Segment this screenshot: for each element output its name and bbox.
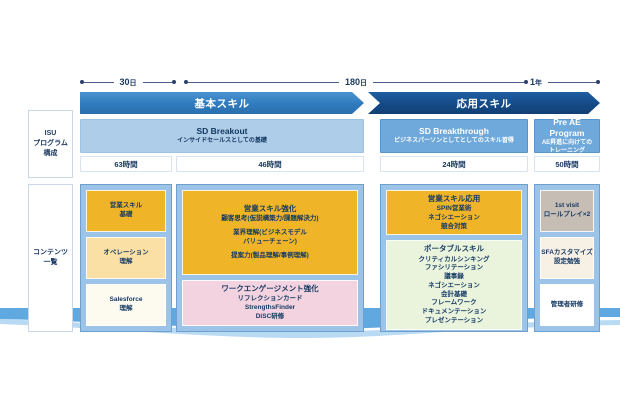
band-basic-skills: 基本スキル: [80, 92, 364, 114]
band-applied-skills: 応用スキル: [368, 92, 600, 114]
content-card-line: 業界理解(ビジネスモデル: [233, 229, 307, 238]
hours-value: 46時間: [258, 159, 281, 170]
content-card-line: 1st visit: [555, 202, 579, 211]
content-card-line: プレゼンテーション: [425, 317, 483, 326]
hours-cell-4: 50時間: [534, 156, 600, 172]
content-card[interactable]: 管理者研修: [540, 284, 594, 326]
content-card-line: 顧客思考(仮説構築力/課題解決力): [221, 215, 318, 224]
content-card-header: 営業スキル強化: [244, 204, 297, 214]
content-card-line: 理解: [120, 258, 133, 267]
row-label-contents-list: コンテンツ 一覧: [28, 184, 73, 332]
content-card-line: ファシリテーション: [425, 264, 483, 273]
timeline-dot-end: [172, 80, 176, 84]
timeline-line: [143, 82, 173, 83]
content-card-header: 営業スキル応用: [428, 194, 481, 204]
row-label-line: プログラム: [33, 140, 68, 147]
content-card-line: オペレーション: [103, 249, 148, 258]
content-card-line: クリティカルシンキング: [419, 256, 490, 265]
content-card-line: 基礎: [120, 211, 133, 220]
content-card-line: Salesforce: [110, 296, 143, 305]
contents-column-4: 1st visitロールプレイ×2SFAカスタマイズ設定勉強管理者研修: [534, 184, 600, 332]
timeline-label-30days: 30日: [114, 78, 143, 87]
row-label-line: 構成: [43, 150, 57, 157]
content-card-line: 設定勉強: [554, 258, 580, 267]
content-card-header: ワークエンゲージメント強化: [221, 284, 318, 294]
hours-value: 24時間: [442, 159, 465, 170]
band-basic-skills-label: 基本スキル: [195, 96, 250, 111]
timeline-line: [476, 82, 524, 83]
timeline: 30日 180日 1年: [80, 72, 600, 92]
content-card-line: StrengthsFinder: [245, 304, 295, 313]
content-card[interactable]: 営業スキル基礎: [86, 190, 166, 232]
contents-column-2: 営業スキル強化顧客思考(仮説構築力/課題解決力)業界理解(ビジネスモデルバリュー…: [176, 184, 364, 332]
content-card-line: 管理者研修: [551, 301, 584, 310]
content-card[interactable]: 営業スキル強化顧客思考(仮説構築力/課題解決力)業界理解(ビジネスモデルバリュー…: [182, 190, 358, 275]
program-subtitle-line: トレーニング: [549, 148, 585, 154]
content-card-line: リフレクションカード: [238, 295, 303, 304]
content-card-line: 理解: [120, 305, 133, 314]
timeline-line: [84, 82, 114, 83]
hours-cell-3: 24時間: [380, 156, 528, 172]
content-card[interactable]: Salesforce理解: [86, 284, 166, 326]
content-card-line: 競合対策: [441, 223, 467, 232]
timeline-label-1year: 1年: [524, 78, 548, 87]
row-label-line: 一覧: [44, 259, 58, 266]
content-card[interactable]: 営業スキル応用SPIN営業術ネゴシエーション競合対策: [386, 190, 522, 235]
hours-value: 63時間: [114, 159, 137, 170]
content-card-line: ネゴシエーション: [428, 214, 480, 223]
timeline-line: [548, 82, 596, 83]
content-card[interactable]: ワークエンゲージメント強化リフレクションカードStrengthsFinderDi…: [182, 280, 358, 326]
hours-cell-2: 46時間: [176, 156, 364, 172]
program-matrix: 基本スキル 応用スキル ISU プログラム 構成 コンテンツ 一覧 SD Bre…: [28, 92, 600, 334]
program-title: SD Breakthrough: [419, 126, 489, 137]
program-sd-breakout[interactable]: SD Breakout インサイドセールスとしての基礎: [80, 119, 364, 153]
hours-cell-1: 63時間: [80, 156, 172, 172]
program-subtitle: AE昇進に向けての トレーニング: [542, 140, 592, 156]
content-card-line: DiSC研修: [256, 313, 285, 322]
timeline-segment-1year: 1年: [476, 72, 600, 92]
content-card-line: バリューチェーン): [243, 238, 297, 247]
content-card-line: SPIN営業術: [437, 205, 472, 214]
program-subtitle-line: AE昇進に向けての: [542, 140, 592, 146]
content-card-header: ポータブルスキル: [424, 244, 484, 254]
timeline-label-180days: 180日: [339, 78, 373, 87]
hours-value: 50時間: [555, 159, 578, 170]
timeline-segment-30days: 30日: [80, 72, 176, 92]
program-title: SD Breakout: [196, 126, 247, 137]
program-subtitle: ビジネスパーソンとしてとしてのスキル習得: [394, 138, 514, 146]
contents-column-3: 営業スキル応用SPIN営業術ネゴシエーション競合対策ポータブルスキルクリティカル…: [380, 184, 528, 332]
content-card-line: 営業スキル: [110, 202, 143, 211]
program-subtitle: インサイドセールスとしての基礎: [177, 138, 267, 146]
band-applied-skills-label: 応用スキル: [457, 96, 512, 111]
program-title: Pre AE Program: [535, 117, 599, 139]
content-card-line: ロールプレイ×2: [544, 211, 590, 220]
row-label-program-structure: ISU プログラム 構成: [28, 110, 73, 178]
content-card[interactable]: SFAカスタマイズ設定勉強: [540, 237, 594, 279]
timeline-line: [188, 82, 339, 83]
content-card-line: SFAカスタマイズ: [541, 249, 592, 258]
program-pre-ae[interactable]: Pre AE Program AE昇進に向けての トレーニング: [534, 119, 600, 153]
contents-column-1: 営業スキル基礎オペレーション理解Salesforce理解: [80, 184, 172, 332]
content-card[interactable]: オペレーション理解: [86, 237, 166, 279]
row-label-line: コンテンツ: [33, 249, 68, 256]
content-card-line: ドキュメンテーション: [422, 308, 487, 317]
row-label-line: ISU: [45, 130, 57, 137]
program-sd-breakthrough[interactable]: SD Breakthrough ビジネスパーソンとしてとしてのスキル習得: [380, 119, 528, 153]
content-card-line: 議事録: [444, 273, 464, 282]
content-card[interactable]: ポータブルスキルクリティカルシンキングファシリテーション議事録ネゴシエーション会…: [386, 240, 522, 329]
content-card-line: ネゴシエーション: [428, 282, 480, 291]
timeline-dot-end: [596, 80, 600, 84]
content-card-line: 提案力(製品理解/事例理解): [231, 252, 309, 261]
content-card[interactable]: 1st visitロールプレイ×2: [540, 190, 594, 232]
content-card-line: フレームワーク: [431, 299, 476, 308]
